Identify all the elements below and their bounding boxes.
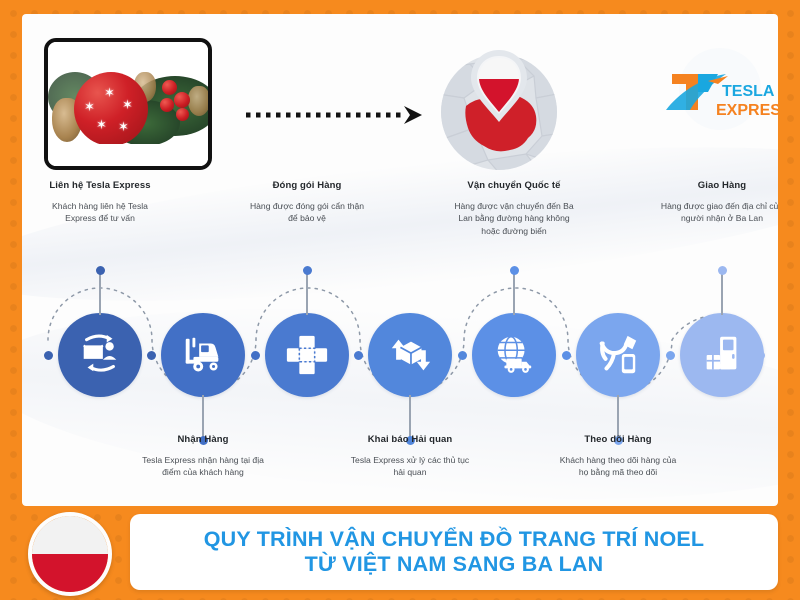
step-title-4: Khai báo Hải quan bbox=[325, 434, 495, 445]
step-desc-1: Khách hàng liên hệ TeslaExpress để tư vấ… bbox=[22, 200, 185, 225]
banner-line-2: TỪ VIỆT NAM SANG BA LAN bbox=[305, 552, 604, 577]
step-desc-line: Tesla Express xử lý các thủ tục bbox=[325, 454, 495, 466]
step-desc-line: Express để tư vấn bbox=[22, 212, 185, 224]
infographic-canvas: ✶ ✶ ✶ ✶ ✶ bbox=[22, 14, 778, 506]
flag-red-band bbox=[32, 554, 108, 592]
step-node-dot-5 bbox=[510, 266, 519, 275]
step-node-dot-7 bbox=[718, 266, 727, 275]
step-title-1: Liên hệ Tesla Express bbox=[22, 180, 185, 191]
step-circle-2[interactable] bbox=[161, 313, 245, 397]
delivery-door-package-icon bbox=[699, 332, 745, 378]
connector-arcs bbox=[22, 14, 778, 506]
step-stem-1 bbox=[99, 270, 100, 315]
step-desc-line: Hàng được vận chuyển đến Ba bbox=[429, 200, 599, 212]
step-title-6: Theo dõi Hàng bbox=[533, 434, 703, 445]
route-tracking-phone-icon bbox=[595, 332, 641, 378]
step-desc-line: Hàng được giao đến địa chỉ của bbox=[637, 200, 778, 212]
step-desc-4: Tesla Express xử lý các thủ tụchải quan bbox=[325, 454, 495, 479]
step-desc-7: Hàng được giao đến địa chỉ củangười nhận… bbox=[637, 200, 778, 225]
step-desc-line: Khách hàng liên hệ Tesla bbox=[22, 200, 185, 212]
step-desc-6: Khách hàng theo dõi hàng củahọ bằng mã t… bbox=[533, 454, 703, 479]
arc-junction-dot-4 bbox=[458, 351, 467, 360]
infographic-root: ✶ ✶ ✶ ✶ ✶ bbox=[0, 0, 800, 600]
step-desc-5: Hàng được vận chuyển đến BaLan bằng đườn… bbox=[429, 200, 599, 237]
step-stem-7 bbox=[721, 270, 722, 315]
step-label-6: Theo dõi HàngKhách hàng theo dõi hàng củ… bbox=[533, 434, 703, 479]
step-desc-2: Tesla Express nhận hàng tại địađiểm của … bbox=[118, 454, 288, 479]
step-desc-line: để bảo vệ bbox=[222, 212, 392, 224]
arc-start-dot bbox=[44, 351, 53, 360]
step-title-7: Giao Hàng bbox=[637, 180, 778, 191]
carton-template-icon bbox=[284, 332, 330, 378]
step-circle-3[interactable] bbox=[265, 313, 349, 397]
contact-mail-person-icon bbox=[77, 332, 123, 378]
globe-truck-icon bbox=[491, 332, 537, 378]
poland-flag-badge bbox=[28, 512, 112, 596]
step-title-5: Vận chuyển Quốc tế bbox=[429, 180, 599, 191]
step-desc-3: Hàng được đóng gói cẩn thậnđể bảo vệ bbox=[222, 200, 392, 225]
step-circle-1[interactable] bbox=[58, 313, 142, 397]
arc-junction-dot-5 bbox=[562, 351, 571, 360]
arc-junction-dot-1 bbox=[147, 351, 156, 360]
arc-end-dot bbox=[756, 351, 765, 360]
step-title-3: Đóng gói Hàng bbox=[222, 180, 392, 191]
step-label-1: Liên hệ Tesla ExpressKhách hàng liên hệ … bbox=[22, 180, 185, 225]
step-circle-7[interactable] bbox=[680, 313, 764, 397]
step-desc-line: điểm của khách hàng bbox=[118, 466, 288, 478]
step-desc-line: họ bằng mã theo dõi bbox=[533, 466, 703, 478]
step-circle-6[interactable] bbox=[576, 313, 660, 397]
step-circle-5[interactable] bbox=[472, 313, 556, 397]
step-label-3: Đóng gói HàngHàng được đóng gói cẩn thận… bbox=[222, 180, 392, 225]
step-desc-line: Hàng được đóng gói cẩn thận bbox=[222, 200, 392, 212]
title-banner: QUY TRÌNH VẬN CHUYỂN ĐỒ TRANG TRÍ NOEL T… bbox=[130, 514, 778, 590]
arc-junction-dot-2 bbox=[251, 351, 260, 360]
step-desc-line: hoặc đường biển bbox=[429, 225, 599, 237]
step-label-5: Vận chuyển Quốc tếHàng được vận chuyển đ… bbox=[429, 180, 599, 237]
step-node-dot-3 bbox=[303, 266, 312, 275]
step-desc-line: Lan bằng đường hàng không bbox=[429, 212, 599, 224]
arc-junction-dot-6 bbox=[666, 351, 675, 360]
banner-line-1: QUY TRÌNH VẬN CHUYỂN ĐỒ TRANG TRÍ NOEL bbox=[204, 527, 705, 552]
step-desc-line: hải quan bbox=[325, 466, 495, 478]
step-node-dot-1 bbox=[96, 266, 105, 275]
step-label-2: Nhận HàngTesla Express nhận hàng tại địa… bbox=[118, 434, 288, 479]
step-label-4: Khai báo Hải quanTesla Express xử lý các… bbox=[325, 434, 495, 479]
step-desc-line: Khách hàng theo dõi hàng của bbox=[533, 454, 703, 466]
step-circle-4[interactable] bbox=[368, 313, 452, 397]
box-import-export-arrows-icon bbox=[387, 332, 433, 378]
step-title-2: Nhận Hàng bbox=[118, 434, 288, 445]
step-stem-5 bbox=[513, 270, 514, 315]
step-label-7: Giao HàngHàng được giao đến địa chỉ củan… bbox=[637, 180, 778, 225]
flag-white-band bbox=[32, 516, 108, 554]
forklift-icon bbox=[180, 332, 226, 378]
step-stem-3 bbox=[306, 270, 307, 315]
arc-junction-dot-3 bbox=[354, 351, 363, 360]
step-desc-line: Tesla Express nhận hàng tại địa bbox=[118, 454, 288, 466]
step-desc-line: người nhận ở Ba Lan bbox=[637, 212, 778, 224]
